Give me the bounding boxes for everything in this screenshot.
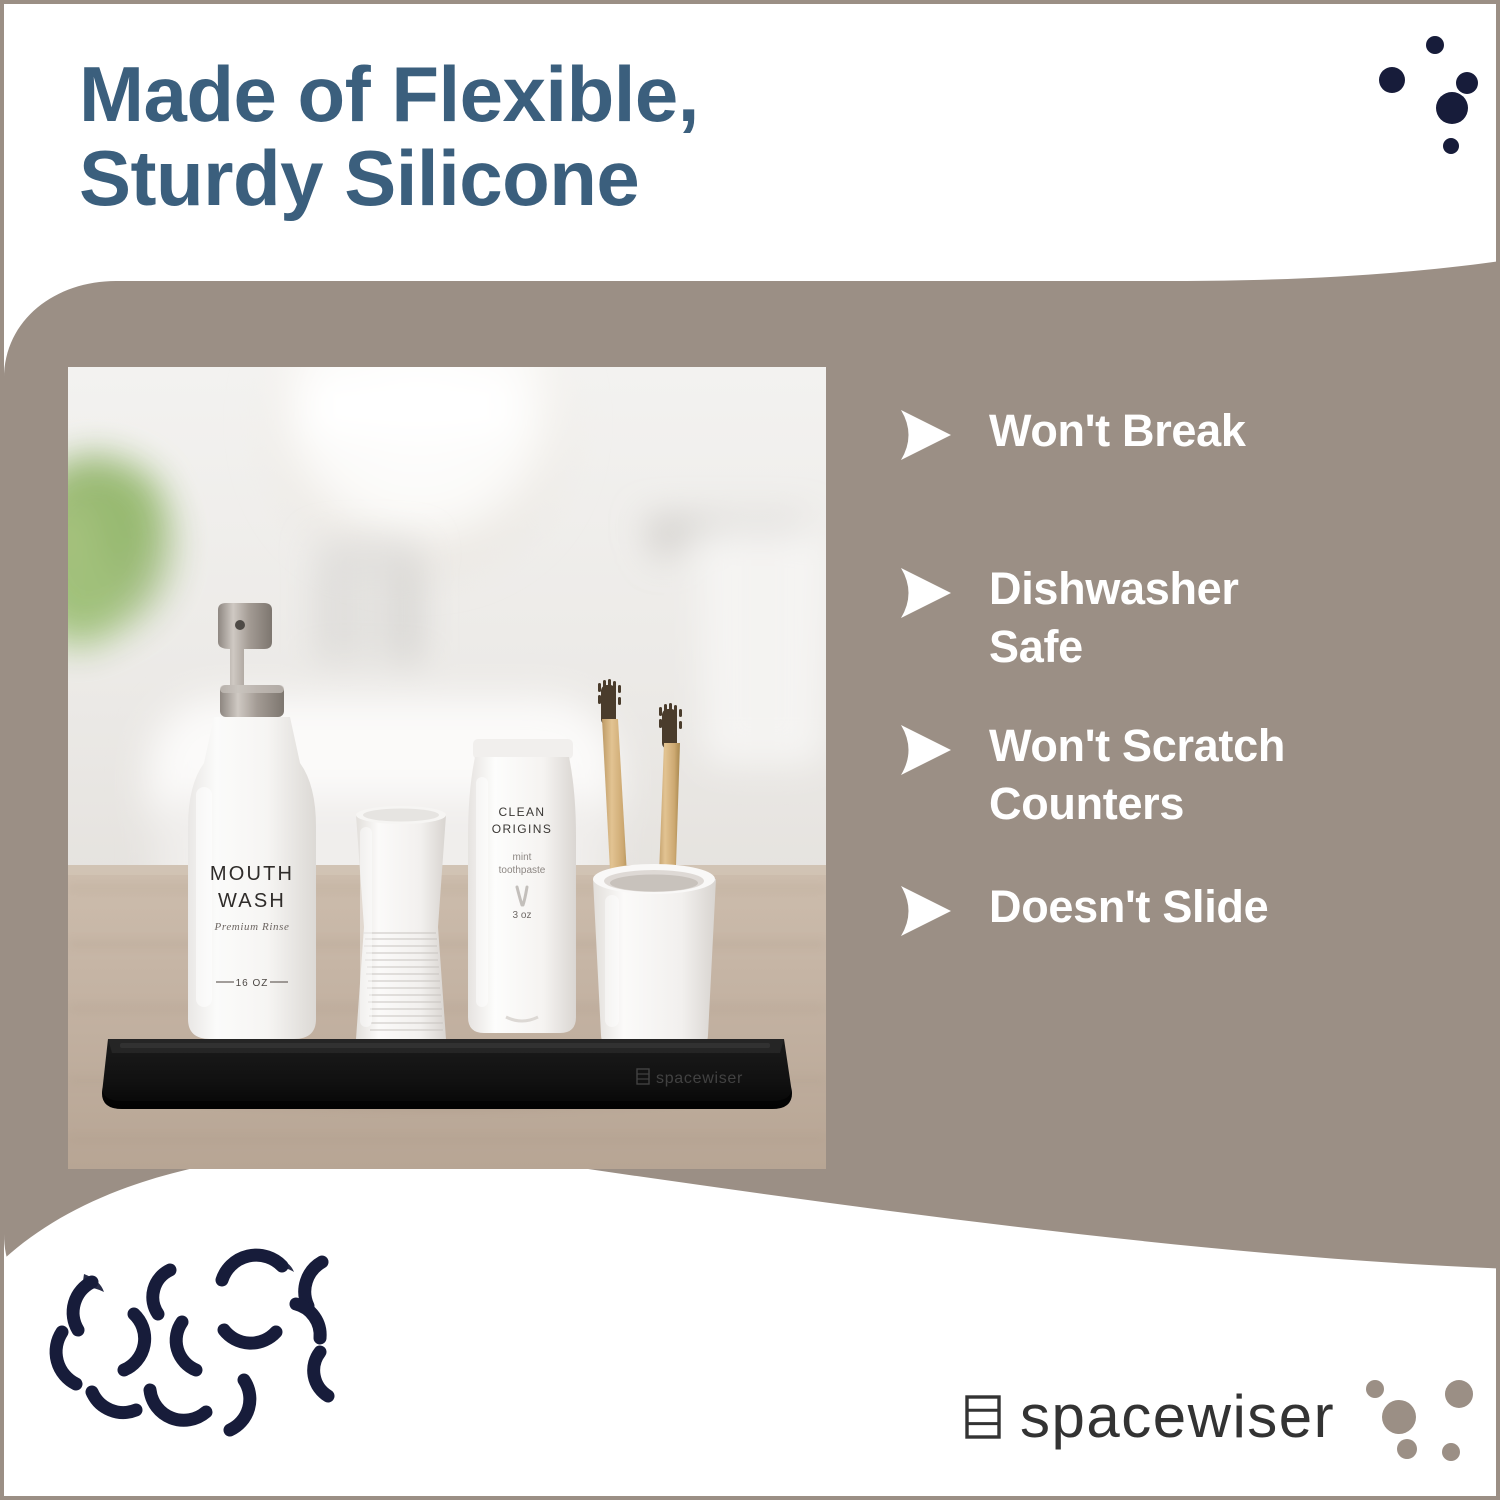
arrow-right-icon	[897, 408, 953, 462]
benefit-label: Won't Break	[989, 402, 1246, 460]
svg-text:3 oz: 3 oz	[513, 910, 532, 921]
benefits-list: Won't Break Dishwasher Safe Won't Scratc…	[897, 402, 1417, 938]
list-item: Won't Break	[897, 402, 1417, 462]
benefit-label: Doesn't Slide	[989, 878, 1268, 936]
benefit-label: Dishwasher Safe	[989, 560, 1239, 675]
navy-dots-decoration	[1367, 26, 1500, 186]
arrow-right-icon	[897, 566, 953, 620]
brand-logo: spacewiser	[964, 1387, 1335, 1447]
list-item: Won't Scratch Counters	[897, 717, 1417, 832]
list-item: Doesn't Slide	[897, 878, 1417, 938]
arrow-right-icon	[897, 723, 953, 777]
arrow-right-icon	[897, 884, 953, 938]
brand-name: spacewiser	[1020, 1387, 1335, 1447]
product-photo: MOUTH WASH Premium Rinse 16 OZ	[68, 367, 826, 1169]
navy-arc-cluster-decoration	[34, 1222, 384, 1462]
toothpaste-tube: CLEAN ORIGINS mint toothpaste 3 oz	[468, 739, 576, 1033]
cup-stack	[356, 806, 446, 1039]
svg-text:MOUTH: MOUTH	[210, 863, 294, 885]
page-title: Made of Flexible, Sturdy Silicone	[79, 52, 979, 220]
svg-text:toothpaste: toothpaste	[499, 865, 546, 876]
benefit-label: Won't Scratch Counters	[989, 717, 1285, 832]
svg-text:Premium Rinse: Premium Rinse	[214, 921, 290, 933]
svg-text:CLEAN: CLEAN	[498, 805, 545, 819]
svg-text:16 OZ: 16 OZ	[236, 978, 269, 989]
list-item: Dishwasher Safe	[897, 560, 1417, 675]
silicone-tray-body: spacewiser	[102, 1039, 792, 1109]
svg-text:WASH: WASH	[218, 890, 286, 912]
svg-text:spacewiser: spacewiser	[656, 1070, 743, 1087]
taupe-dots-decoration	[1349, 1349, 1489, 1479]
shelf-ladder-icon	[964, 1394, 1002, 1440]
svg-text:mint: mint	[513, 852, 532, 863]
svg-text:ORIGINS: ORIGINS	[492, 822, 552, 836]
poster-canvas: Made of Flexible, Sturdy Silicone	[0, 0, 1500, 1500]
